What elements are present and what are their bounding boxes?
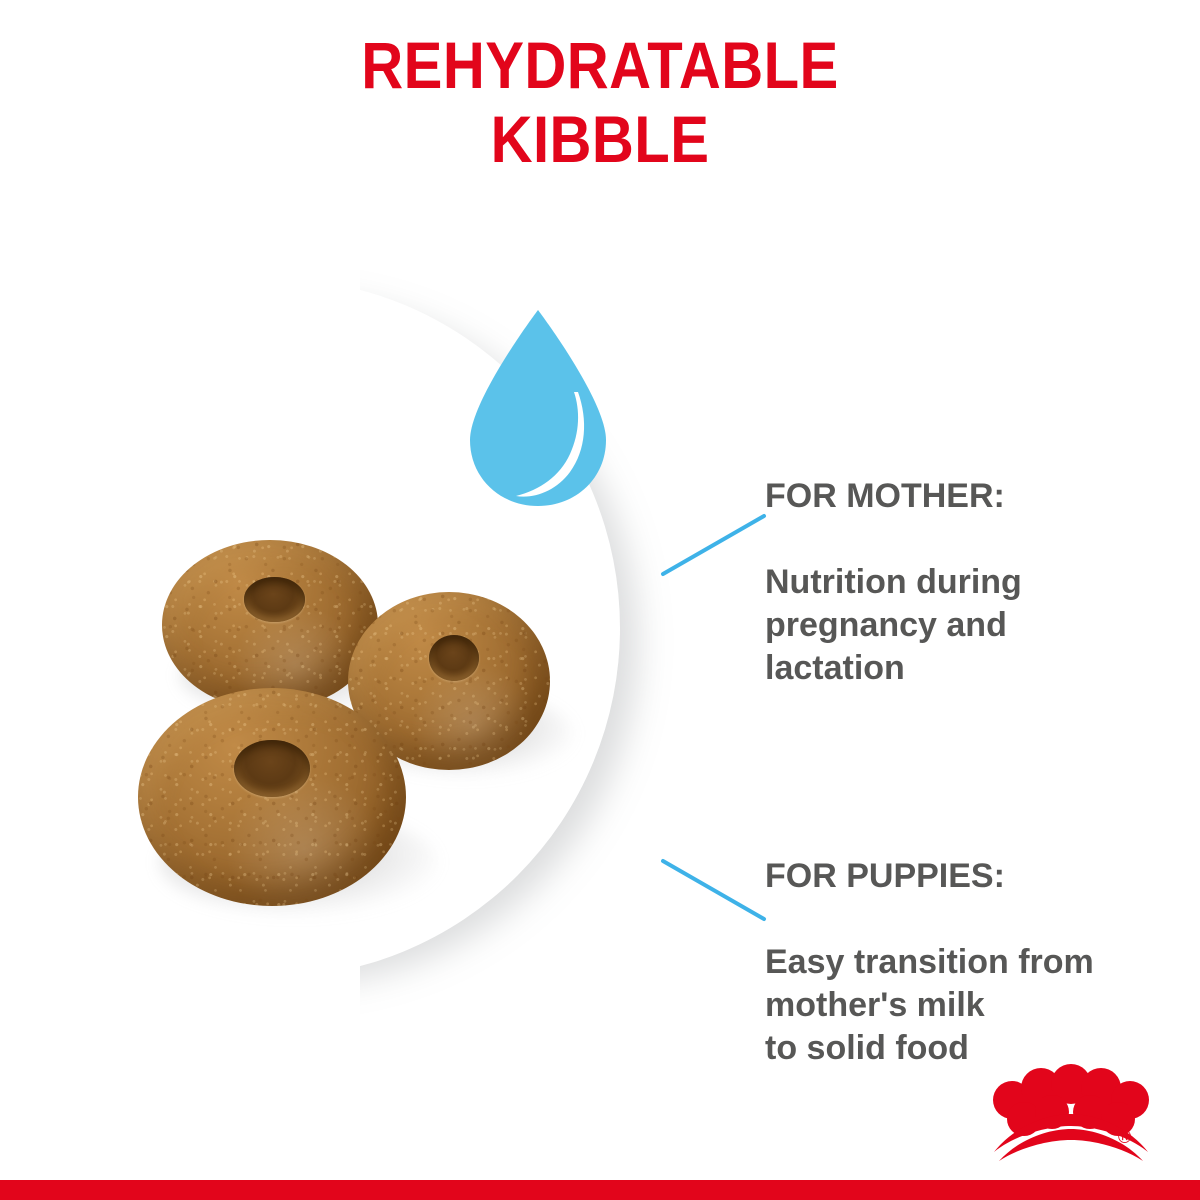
callout-heading-for-mother: FOR MOTHER: <box>765 475 1165 518</box>
kibble-texture <box>138 688 406 906</box>
kibble-center-hole <box>244 577 304 621</box>
royal-canin-crown-logo <box>980 1062 1160 1162</box>
kibble-piece <box>162 540 378 710</box>
kibble-texture <box>162 540 378 710</box>
connector-line-for-mother <box>660 510 770 580</box>
kibble-body <box>162 540 378 710</box>
kibble-photo <box>120 520 600 960</box>
kibble-center-hole <box>429 635 480 681</box>
footer-red-bar <box>0 1180 1200 1200</box>
registered-trademark-mark: ® <box>1118 1128 1131 1146</box>
kibble-body <box>138 688 406 906</box>
kibble-piece <box>138 688 406 906</box>
infographic-page: REHYDRATABLE KIBBLE <box>0 0 1200 1200</box>
callout-body-for-mother: Nutrition during pregnancy and lactation <box>765 561 1165 690</box>
kibble-center-hole <box>234 740 309 797</box>
water-droplet-icon <box>470 308 606 508</box>
page-title: REHYDRATABLE KIBBLE <box>72 28 1128 176</box>
callout-heading-for-puppies: FOR PUPPIES: <box>765 855 1185 898</box>
callout-for-mother: FOR MOTHER: Nutrition during pregnancy a… <box>765 432 1165 733</box>
connector-line-for-puppies <box>660 855 770 925</box>
callout-body-for-puppies: Easy transition from mother's milk to so… <box>765 941 1185 1070</box>
